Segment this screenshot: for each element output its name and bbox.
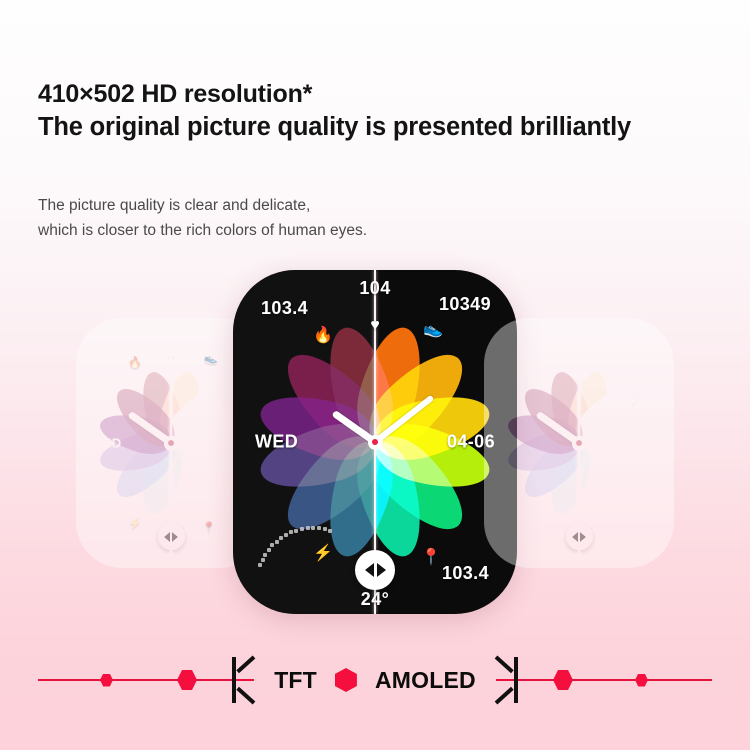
arc-dot bbox=[294, 529, 298, 533]
rule-line-left bbox=[38, 679, 254, 682]
panel-comparison-bar: TFT AMOLED bbox=[0, 640, 750, 720]
weekday-value-left: WED bbox=[90, 436, 122, 451]
subtitle-line-2: which is closer to the rich colors of hu… bbox=[38, 218, 367, 243]
arc-dot bbox=[545, 512, 548, 515]
compare-slider-handle[interactable] bbox=[355, 550, 395, 590]
hex-marker-right-outer bbox=[635, 674, 648, 687]
arc-dot bbox=[105, 516, 108, 519]
hex-marker-left-inner bbox=[177, 670, 197, 690]
arc-dot bbox=[513, 516, 516, 519]
arc-dot bbox=[502, 530, 505, 533]
arc-dot bbox=[137, 512, 140, 515]
arrow-right-icon bbox=[172, 532, 178, 542]
bracket-left-icon bbox=[230, 649, 256, 711]
hand-hub-main bbox=[368, 435, 383, 450]
watch-comparison-stage: 103.4 104 10349 WED 04-06 103.4 24° 🔥 ♥ … bbox=[0, 252, 750, 632]
hand-hub-left bbox=[164, 436, 179, 451]
arc-dot bbox=[263, 553, 267, 557]
arrow-left-icon bbox=[572, 532, 578, 542]
arc-dot bbox=[503, 527, 506, 530]
heart-rate-value: 104 bbox=[359, 278, 390, 299]
shoe-icon: 👟 bbox=[204, 354, 218, 365]
arc-dot bbox=[261, 558, 265, 562]
arrow-left-icon bbox=[164, 532, 170, 542]
arc-dot bbox=[126, 510, 129, 513]
distance-value: 103.4 bbox=[442, 563, 489, 584]
arc-dot bbox=[523, 512, 526, 515]
ghost-watch-right: 103.4 104 10349 WED 04-06 103.4 24° 🔥 ♥ … bbox=[484, 318, 674, 568]
arrow-right-icon bbox=[377, 563, 386, 577]
arrow-left-icon bbox=[365, 563, 374, 577]
arrow-right-icon bbox=[580, 532, 586, 542]
arc-dot bbox=[317, 526, 321, 530]
arc-dot bbox=[300, 527, 304, 531]
arc-dot bbox=[123, 510, 126, 513]
header-block: 410×502 HD resolution* The original pict… bbox=[38, 78, 728, 144]
arc-dot bbox=[511, 519, 514, 522]
arc-dot bbox=[284, 533, 288, 537]
flame-icon: 🔥 bbox=[313, 328, 333, 344]
arc-dot bbox=[289, 530, 293, 534]
heart-icon: ♥ bbox=[168, 352, 175, 363]
arc-dot bbox=[505, 524, 508, 527]
arc-dot bbox=[275, 540, 279, 544]
arc-dot bbox=[258, 563, 262, 567]
hexagon-divider-icon bbox=[335, 668, 357, 692]
arc-dot bbox=[115, 512, 118, 515]
main-watch-face[interactable]: 🔥 ♥ 👟 ⚡ 📍 103.4 104 10349 WED 04-06 103.… bbox=[233, 270, 517, 614]
arc-dot bbox=[94, 530, 97, 533]
arc-dot bbox=[279, 536, 283, 540]
temperature-value-left: 24° bbox=[161, 551, 182, 566]
arc-dot bbox=[92, 534, 95, 537]
amoled-label: AMOLED bbox=[375, 667, 476, 694]
arc-dot bbox=[542, 511, 545, 514]
rule-line-right bbox=[496, 679, 712, 682]
bolt-icon: ⚡ bbox=[128, 519, 142, 530]
temperature-value: 24° bbox=[361, 589, 389, 610]
arc-dot bbox=[311, 526, 315, 530]
arc-dot bbox=[95, 527, 98, 530]
shoe-icon: 👟 bbox=[423, 322, 443, 338]
arc-dot bbox=[538, 510, 541, 513]
hex-marker-left-outer bbox=[100, 674, 113, 687]
hex-marker-right-inner bbox=[553, 670, 573, 690]
arc-dot bbox=[103, 519, 106, 522]
arc-dot bbox=[134, 511, 137, 514]
calories-value: 103.4 bbox=[261, 298, 308, 319]
arc-dot bbox=[97, 524, 100, 527]
heart-icon: ♥ bbox=[370, 318, 380, 334]
bracket-right-icon bbox=[494, 649, 520, 711]
main-watch-face-content: 🔥 ♥ 👟 ⚡ 📍 103.4 104 10349 WED 04-06 103.… bbox=[233, 270, 517, 614]
arc-dot bbox=[323, 527, 327, 531]
progress-arc-left bbox=[90, 510, 146, 550]
arc-dot bbox=[527, 511, 530, 514]
panel-label-group: TFT AMOLED bbox=[230, 649, 520, 711]
tft-label: TFT bbox=[274, 667, 317, 694]
arc-dot bbox=[500, 534, 503, 537]
arc-dot bbox=[267, 548, 271, 552]
compare-slider-handle-left bbox=[158, 523, 185, 550]
bolt-icon: ⚡ bbox=[313, 546, 333, 562]
arc-dot bbox=[306, 526, 310, 530]
subtitle-line-1: The picture quality is clear and delicat… bbox=[38, 193, 367, 218]
arc-dot bbox=[119, 511, 122, 514]
subtitle-block: The picture quality is clear and delicat… bbox=[38, 193, 367, 243]
page-title-line-1: 410×502 HD resolution* bbox=[38, 78, 728, 111]
arc-dot bbox=[531, 510, 534, 513]
calories-value-left: 103.4 bbox=[94, 340, 129, 355]
flame-icon: 🔥 bbox=[128, 358, 142, 369]
ghost-watch-right-face: 103.4 104 10349 WED 04-06 103.4 24° 🔥 ♥ … bbox=[484, 318, 674, 568]
pin-icon: 📍 bbox=[484, 318, 498, 329]
pin-icon: 📍 bbox=[202, 523, 216, 534]
heart-rate-value-left: 104 bbox=[160, 326, 183, 341]
arc-dot bbox=[130, 510, 133, 513]
arc-dot bbox=[534, 510, 537, 513]
steps-value: 10349 bbox=[439, 294, 491, 315]
hand-hub-right bbox=[572, 436, 587, 451]
arc-dot bbox=[270, 543, 274, 547]
compare-slider-handle-right bbox=[566, 523, 593, 550]
progress-arc-right bbox=[498, 510, 554, 550]
arc-dot bbox=[328, 529, 332, 533]
weekday-value: WED bbox=[255, 432, 298, 453]
pin-icon: 📍 bbox=[421, 550, 441, 566]
page-title-line-2: The original picture quality is presente… bbox=[38, 111, 728, 144]
